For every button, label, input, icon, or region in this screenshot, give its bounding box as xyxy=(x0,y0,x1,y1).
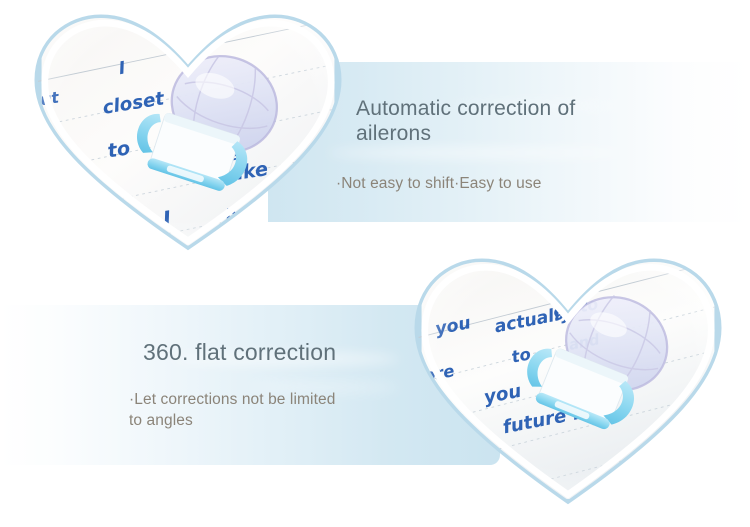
svg-text:ie: ie xyxy=(439,442,459,464)
feature-title-flat-correction: 360. flat correction xyxy=(143,340,473,365)
product-feature-banner: ut I closet 2 to o 3e take h I xyxy=(0,0,750,527)
feature-text-flat-correction: 360. flat correction ·Let corrections no… xyxy=(143,340,473,431)
svg-text:o: o xyxy=(48,171,61,189)
feature-title-auto-correction: Automatic correction of ailerons xyxy=(356,96,686,146)
feature-subtitle-flat-correction: ·Let corrections not be limited to angle… xyxy=(129,389,473,431)
svg-text:y: y xyxy=(495,472,512,495)
photo-top-left: ut I closet 2 to o 3e take h I xyxy=(28,6,348,256)
feature-text-auto-correction: Automatic correction of ailerons ·Not ea… xyxy=(356,96,686,194)
feature-subtitle-auto-correction: ·Not easy to shift·Easy to use xyxy=(336,173,686,194)
